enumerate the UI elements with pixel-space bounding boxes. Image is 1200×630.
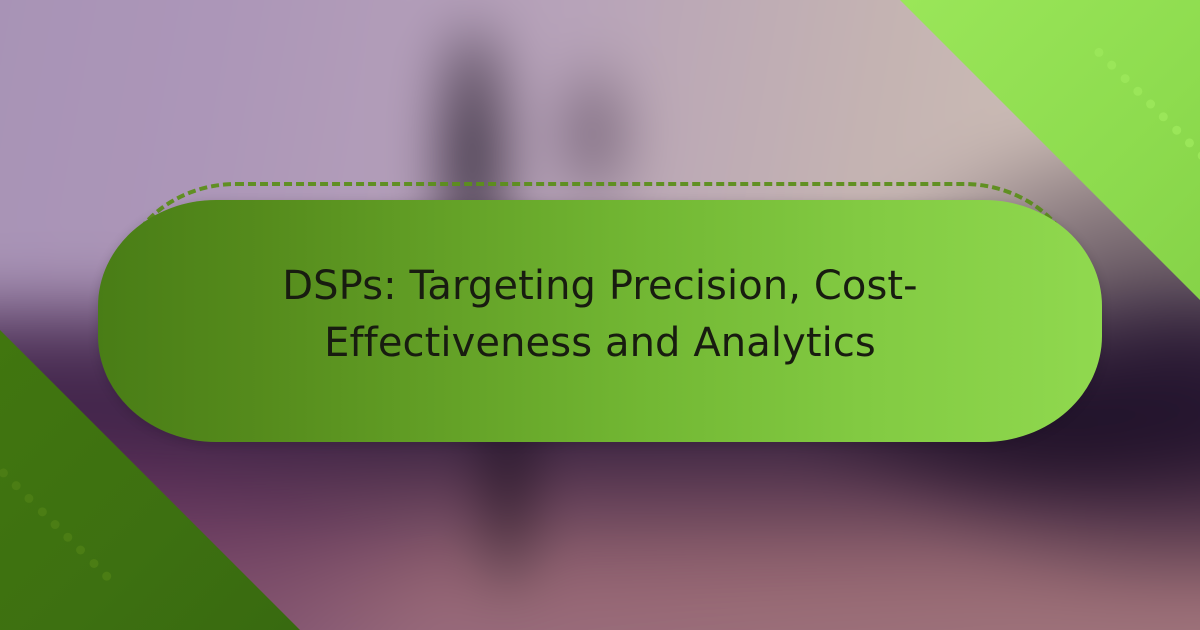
social-share-card: DSPs: Targeting Precision, Cost-Effectiv… [0, 0, 1200, 630]
title-plate: DSPs: Targeting Precision, Cost-Effectiv… [98, 188, 1102, 442]
page-title: DSPs: Targeting Precision, Cost-Effectiv… [98, 188, 1102, 442]
accent-dot [1196, 149, 1200, 162]
